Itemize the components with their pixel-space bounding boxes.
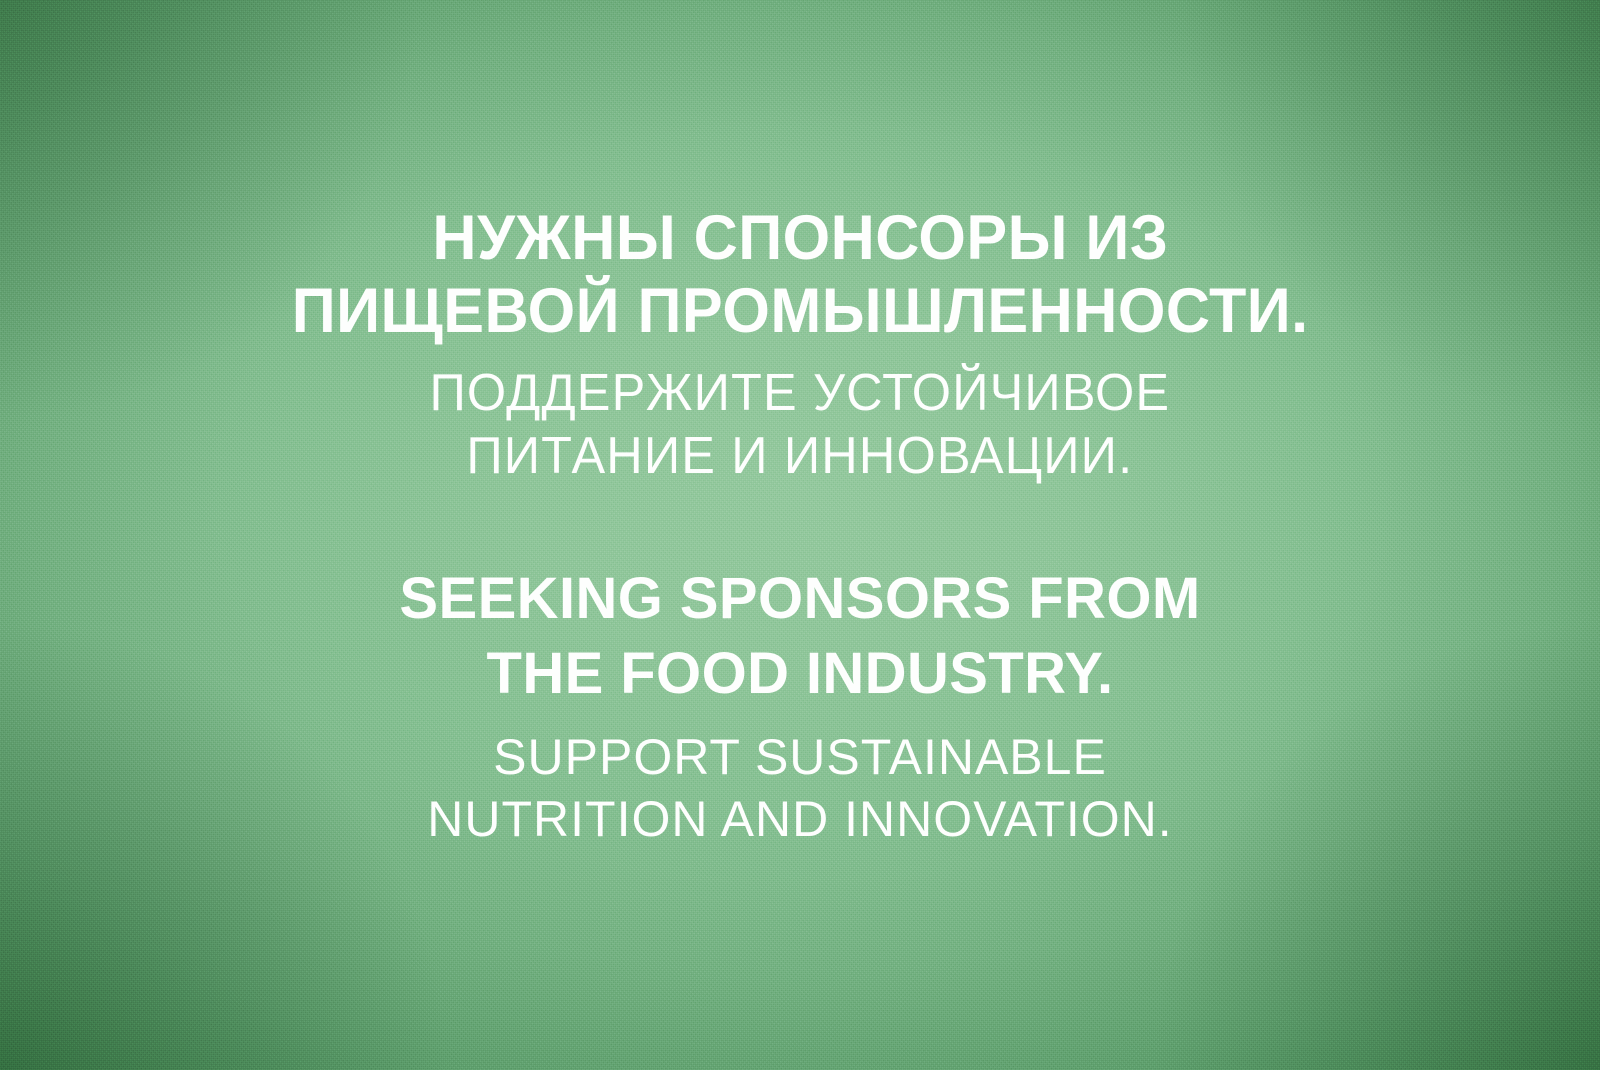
english-headline-line-1: SEEKING SPONSORS FROM xyxy=(399,561,1200,636)
english-subtitle-line-1: SUPPORT SUSTAINABLE xyxy=(493,726,1107,788)
russian-text-block: НУЖНЫ СПОНСОРЫ ИЗ ПИЩЕВОЙ ПРОМЫШЛЕННОСТИ… xyxy=(0,202,1600,487)
slide-content: НУЖНЫ СПОНСОРЫ ИЗ ПИЩЕВОЙ ПРОМЫШЛЕННОСТИ… xyxy=(0,0,1600,1070)
slide-canvas: НУЖНЫ СПОНСОРЫ ИЗ ПИЩЕВОЙ ПРОМЫШЛЕННОСТИ… xyxy=(0,0,1600,1070)
english-text-block: SEEKING SPONSORS FROM THE FOOD INDUSTRY.… xyxy=(0,561,1600,850)
russian-subtitle-line-2: ПИТАНИЕ И ИННОВАЦИИ. xyxy=(467,425,1134,487)
russian-subtitle-line-1: ПОДДЕРЖИТЕ УСТОЙЧИВОЕ xyxy=(430,362,1171,424)
russian-headline-line-1: НУЖНЫ СПОНСОРЫ ИЗ xyxy=(432,202,1168,275)
english-subtitle-line-2: NUTRITION AND INNOVATION. xyxy=(427,788,1172,850)
russian-headline-line-2: ПИЩЕВОЙ ПРОМЫШЛЕННОСТИ. xyxy=(292,275,1309,348)
english-headline-line-2: THE FOOD INDUSTRY. xyxy=(487,636,1114,711)
